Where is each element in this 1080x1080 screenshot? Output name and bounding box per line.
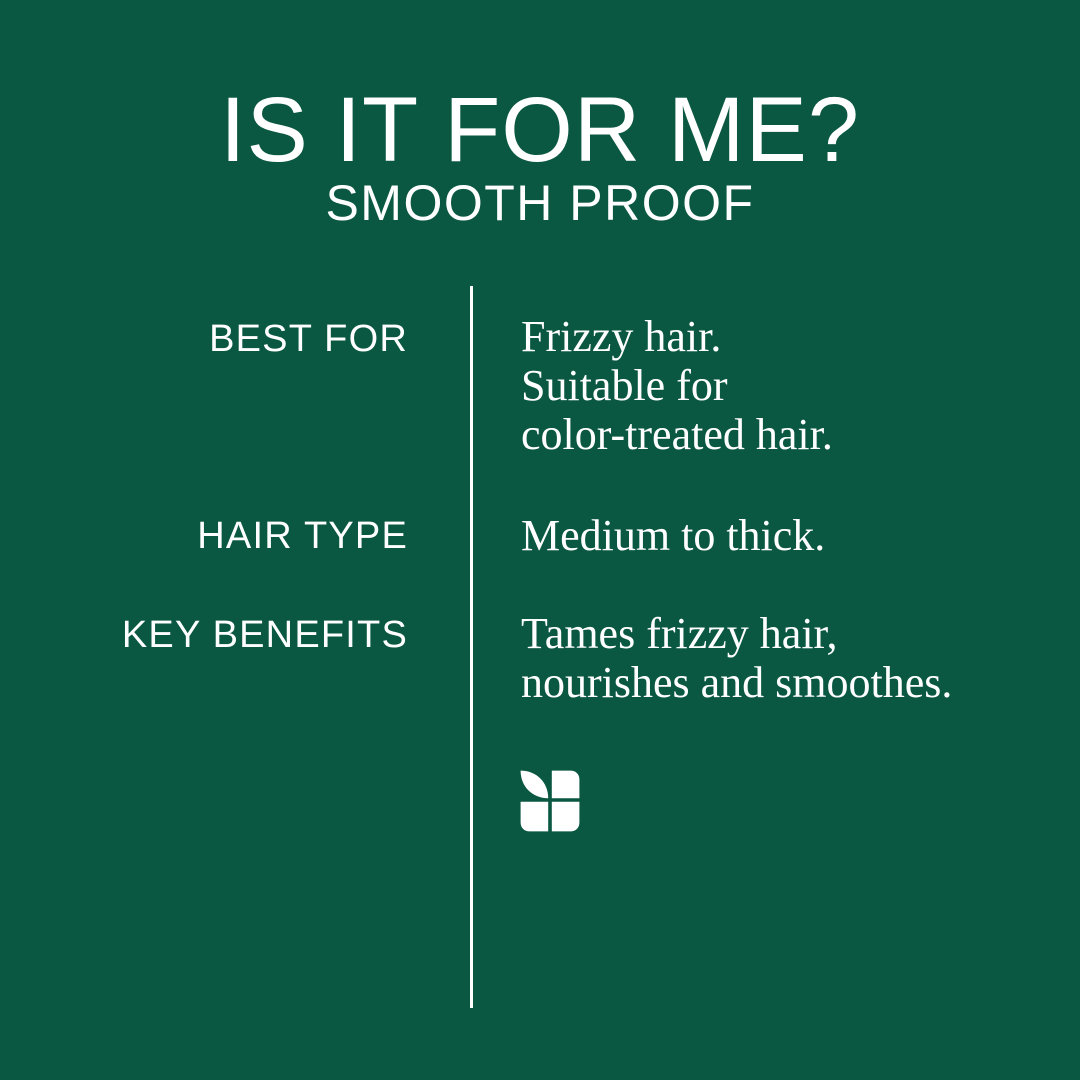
spec-label-hair-type: HAIR TYPE [40,513,408,559]
spec-value-line: Frizzy hair. [521,312,1041,361]
spec-label-key-benefits: KEY BENEFITS [40,612,408,658]
product-info-card: IS IT FOR ME? SMOOTH PROOF BEST FOR Friz… [0,0,1080,1080]
spec-value-line: Tames frizzy hair, [521,609,1041,658]
spec-value-line: Suitable for [521,361,1041,410]
spec-value-line: Medium to thick. [521,511,1041,560]
spec-value-line: color-treated hair. [521,410,1041,459]
spec-label-best-for: BEST FOR [40,316,408,362]
spec-value-line: nourishes and smoothes. [521,658,1041,707]
spec-value-best-for: Frizzy hair. Suitable for color-treated … [521,312,1041,459]
spec-value-hair-type: Medium to thick. [521,511,1041,560]
spec-value-key-benefits: Tames frizzy hair, nourishes and smoothe… [521,609,1041,707]
leaf-quadrant-logo-icon [519,769,581,833]
spec-list: BEST FOR Frizzy hair. Suitable for color… [0,0,1080,1080]
